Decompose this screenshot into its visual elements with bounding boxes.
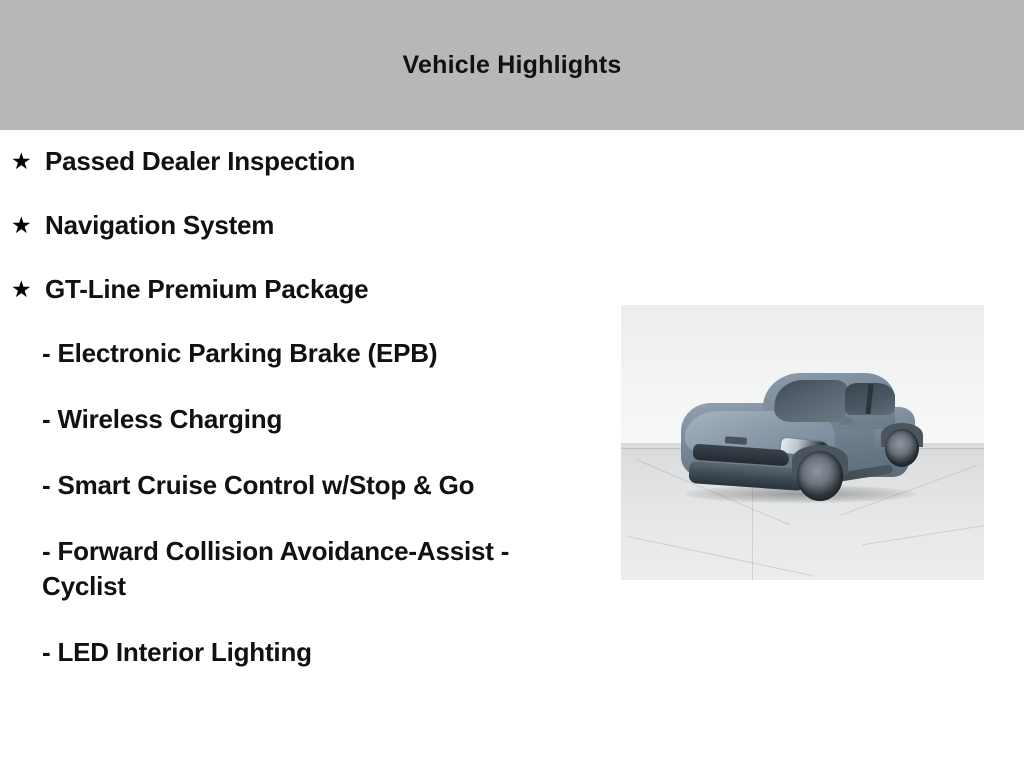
highlight-item-navigation-system: ★ Navigation System — [0, 208, 600, 242]
car-illustration — [679, 367, 927, 507]
highlight-sublabel: - Forward Collision Avoidance-Assist - C… — [42, 534, 572, 604]
highlight-sublabel: - Smart Cruise Control w/Stop & Go — [42, 468, 572, 503]
highlight-label: Navigation System — [45, 208, 600, 242]
highlight-sublabel: - Electronic Parking Brake (EPB) — [42, 336, 572, 371]
vehicle-highlights-list: ★ Passed Dealer Inspection ★ Navigation … — [0, 130, 600, 701]
car-windshield — [773, 380, 849, 422]
highlight-sublabel: - Wireless Charging — [42, 402, 572, 437]
highlight-subitem-smart-cruise-control: - Smart Cruise Control w/Stop & Go — [0, 468, 600, 503]
car-rear-wheel — [885, 429, 919, 467]
car-side-mirror — [839, 417, 853, 425]
header-bar: Vehicle Highlights — [0, 0, 1024, 130]
highlight-label: Passed Dealer Inspection — [45, 144, 600, 178]
vehicle-photo — [621, 305, 984, 580]
highlight-sublabel: - LED Interior Lighting — [42, 635, 572, 670]
highlight-subitem-led-interior-lighting: - LED Interior Lighting — [0, 635, 600, 670]
star-bullet-icon: ★ — [11, 272, 32, 306]
highlight-item-gt-line-premium-package: ★ GT-Line Premium Package — [0, 272, 600, 306]
highlight-subitem-forward-collision-avoidance-assist: - Forward Collision Avoidance-Assist - C… — [0, 534, 600, 604]
page-title: Vehicle Highlights — [0, 50, 1024, 80]
car-front-wheel — [797, 451, 843, 501]
kia-badge-icon — [725, 436, 747, 445]
star-bullet-icon: ★ — [11, 144, 32, 178]
highlight-subitem-electronic-parking-brake: - Electronic Parking Brake (EPB) — [0, 336, 600, 371]
content-area: ★ Passed Dealer Inspection ★ Navigation … — [0, 130, 1024, 768]
star-bullet-icon: ★ — [11, 208, 32, 242]
highlight-subitem-wireless-charging: - Wireless Charging — [0, 402, 600, 437]
highlight-item-passed-dealer-inspection: ★ Passed Dealer Inspection — [0, 144, 600, 178]
highlight-label: GT-Line Premium Package — [45, 272, 600, 306]
